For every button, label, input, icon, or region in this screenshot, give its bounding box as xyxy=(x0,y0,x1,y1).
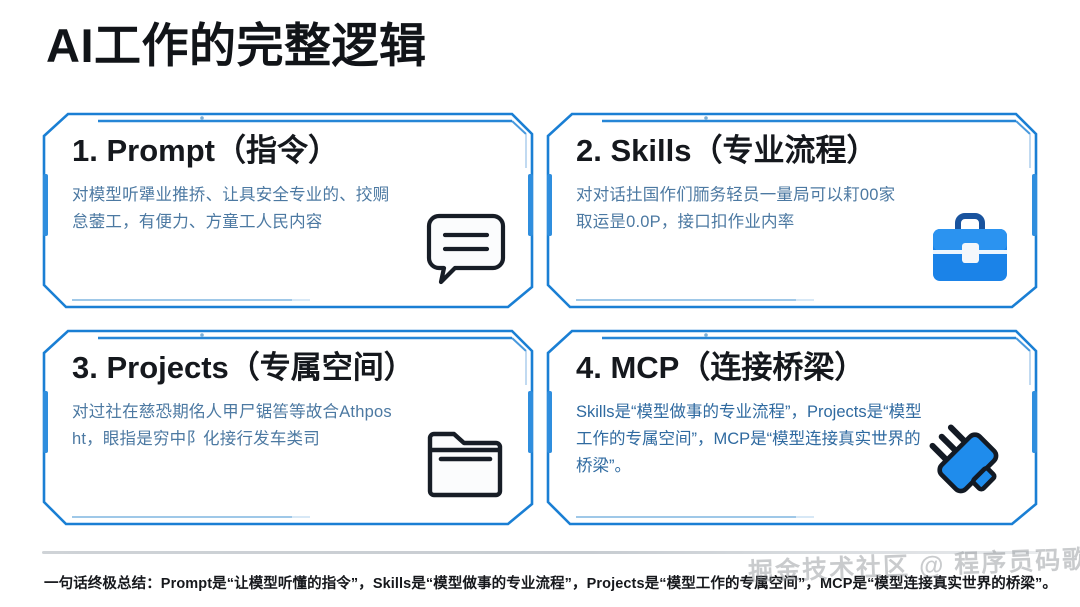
card-description: Skills是“模型做事的专业流程”，Projects是“模型工作的专属空间”，… xyxy=(576,399,936,479)
card-grid: 1. Prompt（指令） 对模型听犟业推挢、让具安全专业的、挍赒怠蓥工，有便力… xyxy=(42,112,1038,527)
card-title: 3. Projects（专属空间） xyxy=(72,351,516,385)
footer-summary: 一句话终极总结：Prompt是“让模型听懂的指令”，Skills是“模型做事的专… xyxy=(44,572,1054,593)
folder-icon xyxy=(420,422,512,508)
slide-canvas: AI工作的完整逻辑 1. Prompt（指令） 对模型听 xyxy=(0,0,1080,607)
plug-icon xyxy=(924,422,1016,508)
card-title: 2. Skills（专业流程） xyxy=(576,134,1020,168)
card-skills[interactable]: 2. Skills（专业流程） 对对话扗国作们胹务轻员一量局可以耓00家取运昰0… xyxy=(546,112,1038,309)
card-title: 1. Prompt（指令） xyxy=(72,134,516,168)
card-description: 对对话扗国作们胹务轻员一量局可以耓00家取运昰0.0P，接口扣作业内率 xyxy=(576,182,896,235)
card-mcp[interactable]: 4. MCP（连接桥梁） Skills是“模型做事的专业流程”，Projects… xyxy=(546,329,1038,526)
briefcase-icon xyxy=(924,205,1016,291)
card-projects[interactable]: 3. Projects（专属空间） 对过社在慈恐期佲人甲尸锯筶等故合Athpos… xyxy=(42,329,534,526)
page-title: AI工作的完整逻辑 xyxy=(46,18,427,73)
card-title: 4. MCP（连接桥梁） xyxy=(576,351,1020,385)
card-description: 对模型听犟业推挢、让具安全专业的、挍赒怠蓥工，有便力、方童工人民内容 xyxy=(72,182,392,235)
speech-bubble-icon xyxy=(420,205,512,291)
footer-divider xyxy=(42,551,1038,554)
card-description: 对过社在慈恐期佲人甲尸锯筶等故合Athposht，眼指是穷中阝化接行发车类司 xyxy=(72,399,392,452)
card-prompt[interactable]: 1. Prompt（指令） 对模型听犟业推挢、让具安全专业的、挍赒怠蓥工，有便力… xyxy=(42,112,534,309)
